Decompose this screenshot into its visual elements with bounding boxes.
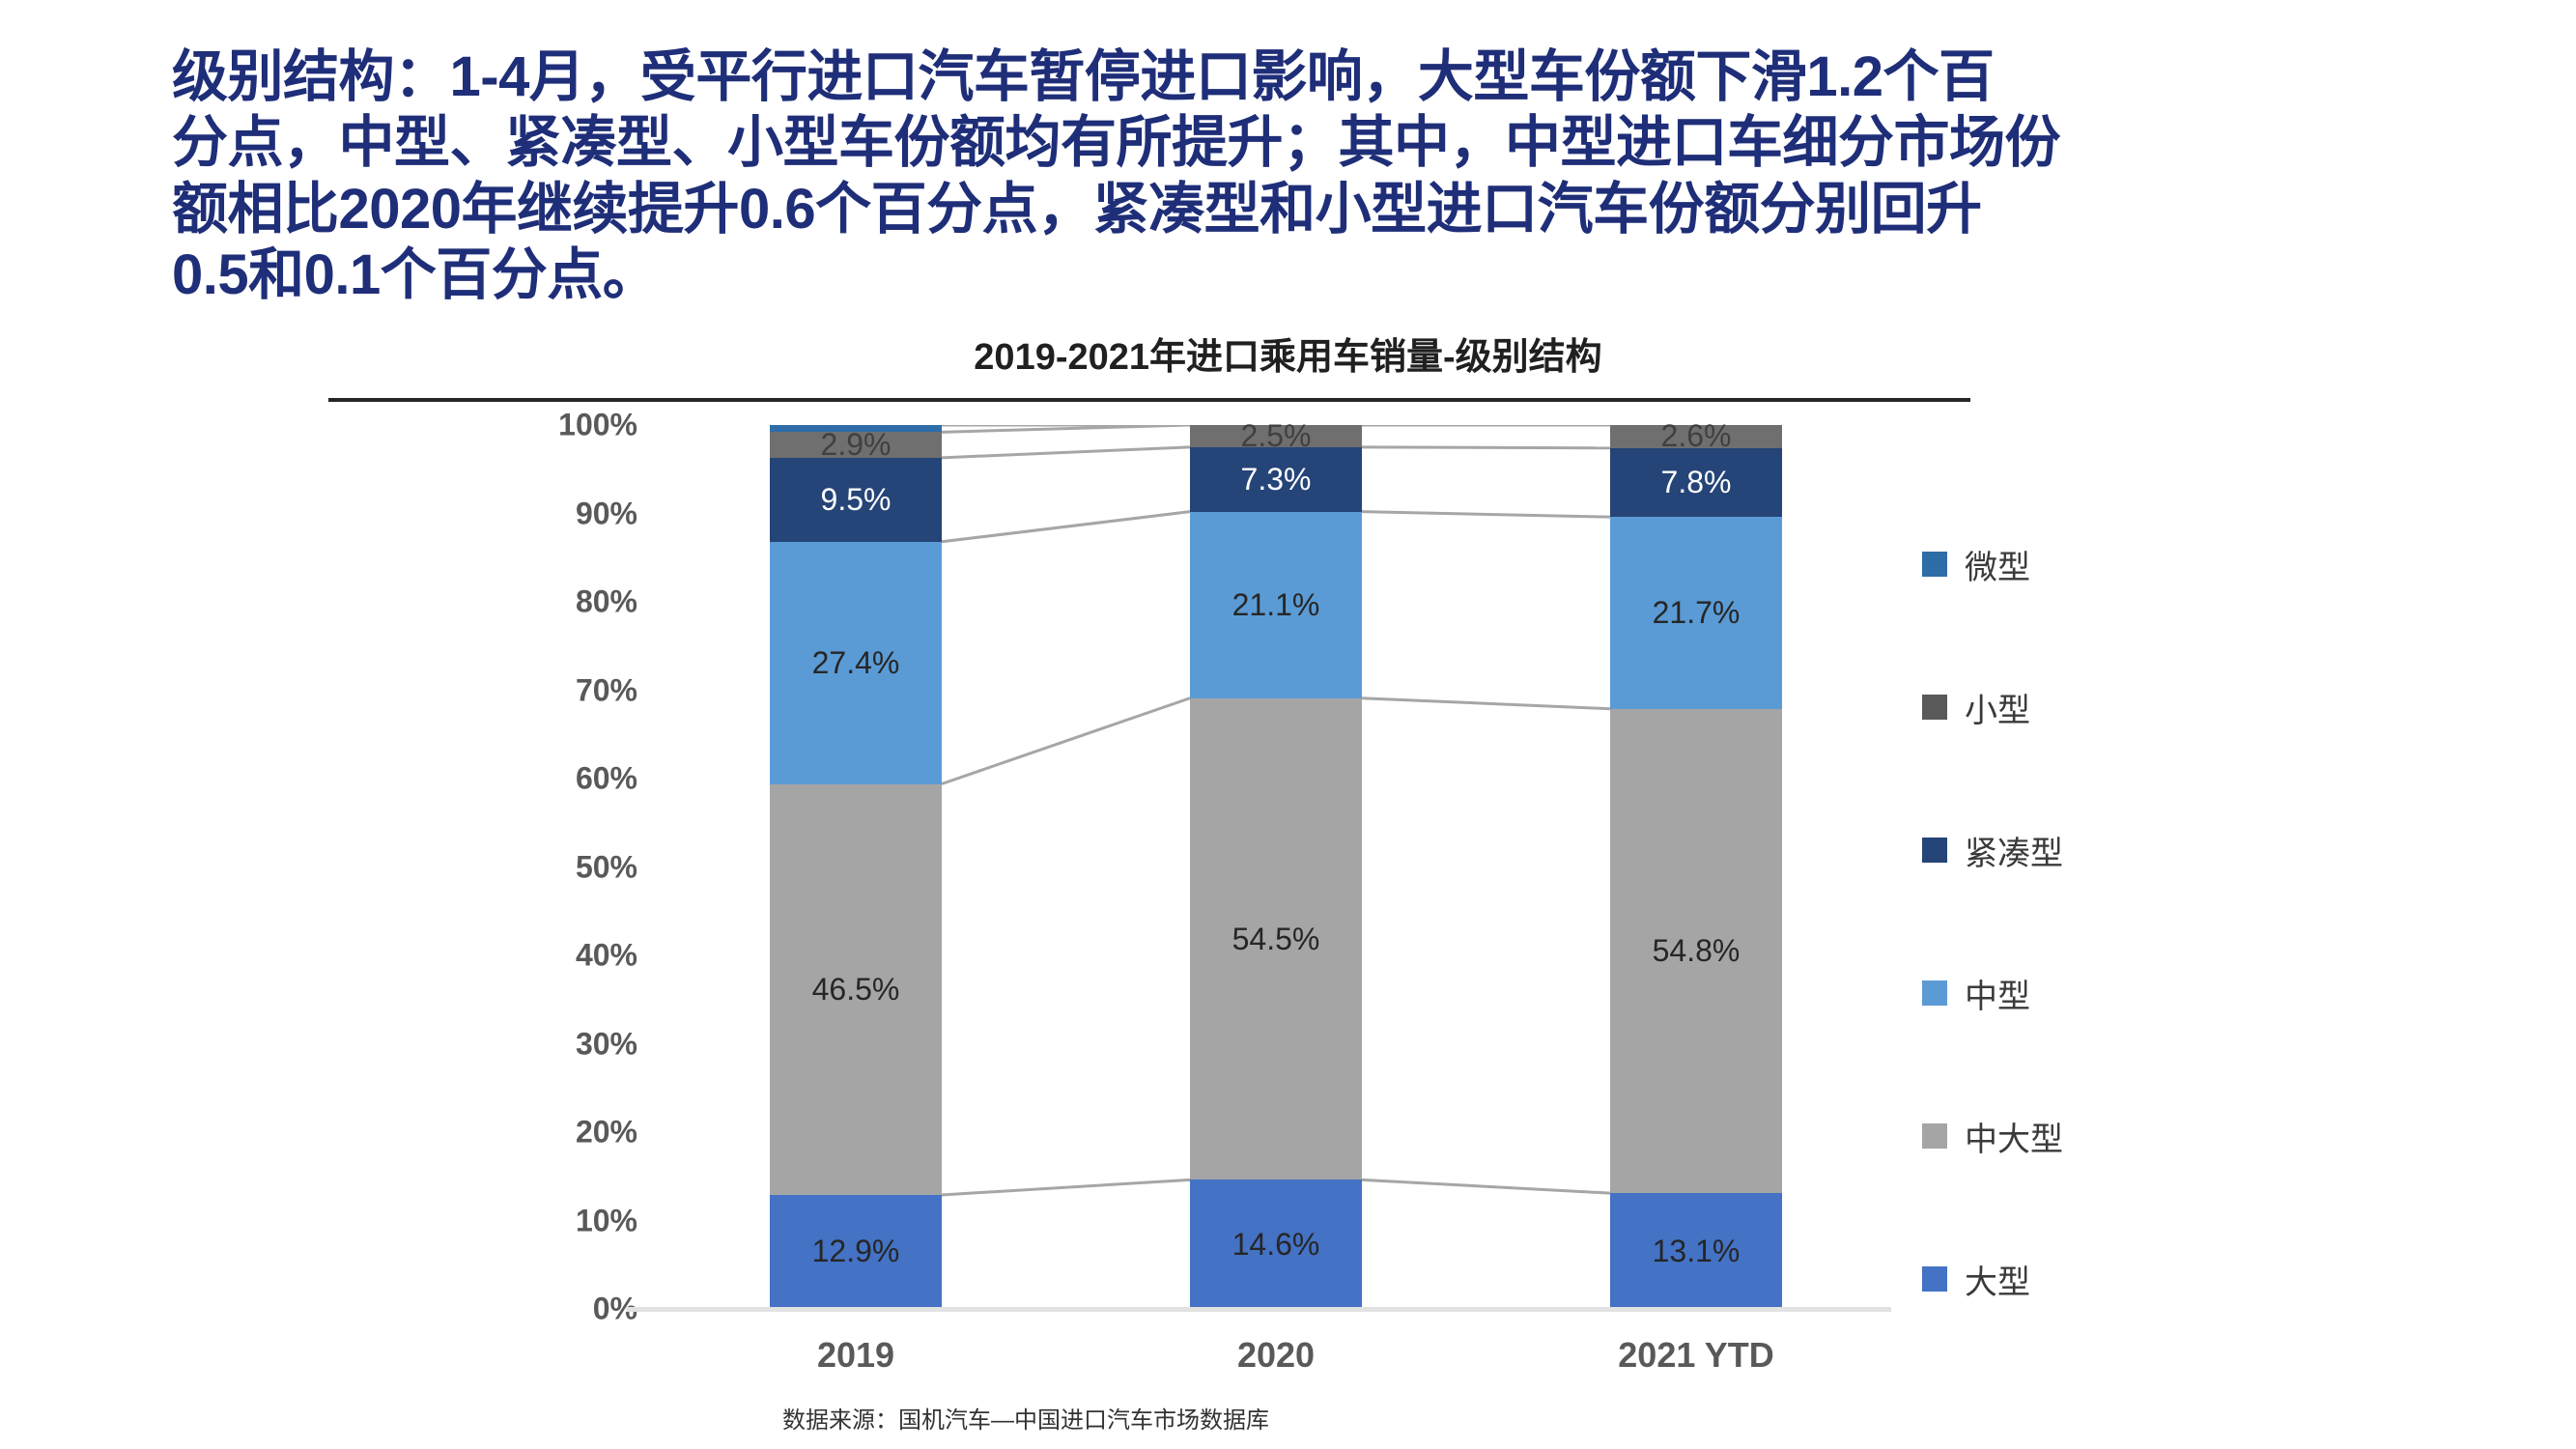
bar-segment[interactable]: 2.5% — [1190, 425, 1362, 447]
headline-line-2: 分点，中型、紧凑型、小型车份额均有所提升；其中，中型进口车细分市场份 — [172, 110, 2432, 176]
stacked-bar-2020[interactable]: 14.6%54.5%21.1%7.3%2.5% — [1190, 425, 1362, 1309]
bar-segment[interactable]: 12.9% — [770, 1195, 942, 1309]
y-axis: 100%90%80%70%60%50%40%30%20%10%0% — [512, 425, 637, 1309]
bar-segment[interactable]: 54.8% — [1610, 709, 1782, 1193]
legend-swatch-icon — [1922, 980, 1947, 1006]
legend-swatch-icon — [1922, 695, 1947, 720]
chart-legend: 微型小型紧凑型中型中大型大型 — [1922, 493, 2328, 1350]
x-axis-baseline — [626, 1307, 1891, 1312]
bar-segment-label: 7.8% — [1661, 465, 1732, 500]
bar-segment-label: 27.4% — [812, 645, 900, 681]
bar-segment-label: 9.5% — [821, 482, 892, 518]
legend-item[interactable]: 中大型 — [1922, 1065, 2328, 1207]
y-tick-label: 80% — [576, 584, 637, 620]
y-tick-label: 70% — [576, 672, 637, 708]
legend-item[interactable]: 小型 — [1922, 636, 2328, 779]
headline-line-4: 0.5和0.1个百分点。 — [172, 242, 2432, 308]
x-tick-label: 2019 — [701, 1335, 1010, 1376]
bar-segment-label: 21.7% — [1653, 595, 1741, 631]
legend-swatch-icon — [1922, 552, 1947, 577]
bar-segment[interactable]: 14.6% — [1190, 1179, 1362, 1309]
title-divider — [328, 398, 1970, 402]
y-tick-label: 20% — [576, 1115, 637, 1151]
bar-segment-label: 14.6% — [1232, 1227, 1320, 1263]
bar-segment[interactable]: 21.1% — [1190, 512, 1362, 698]
y-tick-label: 30% — [576, 1026, 637, 1062]
x-tick-label: 2021 YTD — [1542, 1335, 1851, 1376]
bar-segment[interactable]: 9.5% — [770, 458, 942, 542]
y-tick-label: 100% — [558, 408, 637, 443]
bar-segment-label: 12.9% — [812, 1234, 900, 1269]
y-tick-label: 60% — [576, 761, 637, 797]
bar-segment[interactable]: 7.8% — [1610, 448, 1782, 517]
source-note: 数据来源：国机汽车—中国进口汽车市场数据库 — [782, 1401, 1269, 1435]
legend-item[interactable]: 紧凑型 — [1922, 779, 2328, 922]
bar-segment[interactable]: 2.9% — [770, 432, 942, 458]
bar-segment-label: 7.3% — [1241, 462, 1312, 497]
legend-label: 中型 — [1965, 970, 2030, 1017]
bar-segment[interactable]: 7.3% — [1190, 447, 1362, 512]
chart-title: 2019-2021年进口乘用车销量-级别结构 — [0, 327, 2576, 380]
bar-segment-label: 54.8% — [1653, 933, 1741, 969]
y-tick-label: 40% — [576, 938, 637, 974]
legend-swatch-icon — [1922, 1123, 1947, 1149]
bar-segment[interactable]: 13.1% — [1610, 1193, 1782, 1309]
headline-line-3: 额相比2020年继续提升0.6个百分点，紧凑型和小型进口汽车份额分别回升 — [172, 177, 2432, 242]
bar-segment[interactable]: 27.4% — [770, 542, 942, 784]
headline-line-1: 级别结构：1-4月，受平行进口汽车暂停进口影响，大型车份额下滑1.2个百 — [172, 44, 2432, 110]
legend-swatch-icon — [1922, 1266, 1947, 1292]
legend-label: 小型 — [1965, 684, 2030, 731]
bar-segment-label: 13.1% — [1653, 1234, 1741, 1269]
y-tick-label: 10% — [576, 1203, 637, 1238]
bar-segment[interactable]: 21.7% — [1610, 517, 1782, 709]
bar-segment-label: 54.5% — [1232, 922, 1320, 957]
y-tick-label: 90% — [576, 496, 637, 531]
bar-segment-label: 2.9% — [821, 427, 892, 463]
slide-headline: 级别结构：1-4月，受平行进口汽车暂停进口影响，大型车份额下滑1.2个百 分点，… — [172, 44, 2432, 309]
legend-label: 微型 — [1965, 541, 2030, 588]
stacked-bar-2019[interactable]: 12.9%46.5%27.4%9.5%2.9% — [770, 425, 942, 1309]
legend-label: 大型 — [1965, 1256, 2030, 1303]
legend-swatch-icon — [1922, 838, 1947, 863]
y-tick-label: 50% — [576, 849, 637, 885]
stacked-bar-2021-ytd[interactable]: 13.1%54.8%21.7%7.8%2.6% — [1610, 425, 1782, 1309]
legend-item[interactable]: 中型 — [1922, 922, 2328, 1065]
bar-segment[interactable]: 54.5% — [1190, 698, 1362, 1180]
x-tick-label: 2020 — [1121, 1335, 1430, 1376]
legend-label: 中大型 — [1965, 1113, 2063, 1160]
bar-segment-label: 46.5% — [812, 972, 900, 1008]
legend-item[interactable]: 微型 — [1922, 493, 2328, 636]
plot-area: 12.9%46.5%27.4%9.5%2.9%14.6%54.5%21.1%7.… — [666, 425, 1885, 1309]
legend-item[interactable]: 大型 — [1922, 1207, 2328, 1350]
bar-segment[interactable] — [770, 425, 942, 432]
legend-label: 紧凑型 — [1965, 827, 2063, 874]
bar-segment[interactable]: 46.5% — [770, 784, 942, 1195]
bar-segment-label: 21.1% — [1232, 587, 1320, 623]
bar-segment[interactable]: 2.6% — [1610, 425, 1782, 448]
